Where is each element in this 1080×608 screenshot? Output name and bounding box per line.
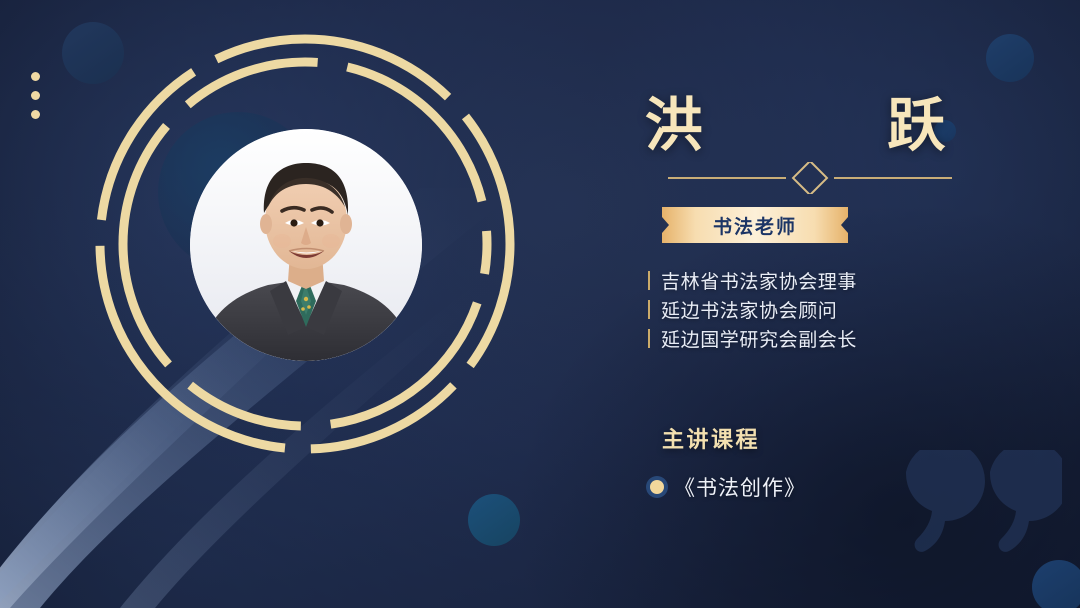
portrait-block <box>85 24 525 464</box>
gold-dot-icon <box>31 91 40 100</box>
gold-dot-icon <box>31 110 40 119</box>
credential-bar-icon <box>648 271 650 290</box>
credential-bar-icon <box>648 300 650 319</box>
gold-dot-icon <box>31 72 40 81</box>
diamond-divider-icon <box>650 162 970 194</box>
credential-item: 吉林省书法家协会理事 <box>648 266 1048 295</box>
credential-item: 延边国学研究会副会长 <box>648 324 1048 353</box>
speaker-profile-slide: 洪 跃 书法老师 <box>0 0 1080 608</box>
course-section-heading: 主讲课程 <box>662 422 760 454</box>
credential-item: 延边书法家协会顾问 <box>648 295 1048 324</box>
speaker-name: 洪 跃 <box>642 78 972 162</box>
gold-ring-frame <box>85 24 525 464</box>
role-badge: 书法老师 <box>660 205 850 245</box>
course-list-item: 《书法创作》 <box>650 472 806 502</box>
role-badge-label: 书法老师 <box>713 212 797 239</box>
decorative-circle-bottom-mid <box>468 494 520 546</box>
bullet-dot-icon <box>650 480 664 494</box>
credential-label: 延边书法家协会顾问 <box>661 296 837 323</box>
credentials-list: 吉林省书法家协会理事 延边书法家协会顾问 延边国学研究会副会长 <box>648 266 1048 353</box>
gold-dots-decoration <box>31 72 40 129</box>
credential-bar-icon <box>648 329 650 348</box>
credential-label: 吉林省书法家协会理事 <box>661 267 857 294</box>
credential-label: 延边国学研究会副会长 <box>661 325 857 352</box>
speaker-info-column: 洪 跃 书法老师 <box>630 0 1060 608</box>
course-title-label: 《书法创作》 <box>674 472 806 502</box>
